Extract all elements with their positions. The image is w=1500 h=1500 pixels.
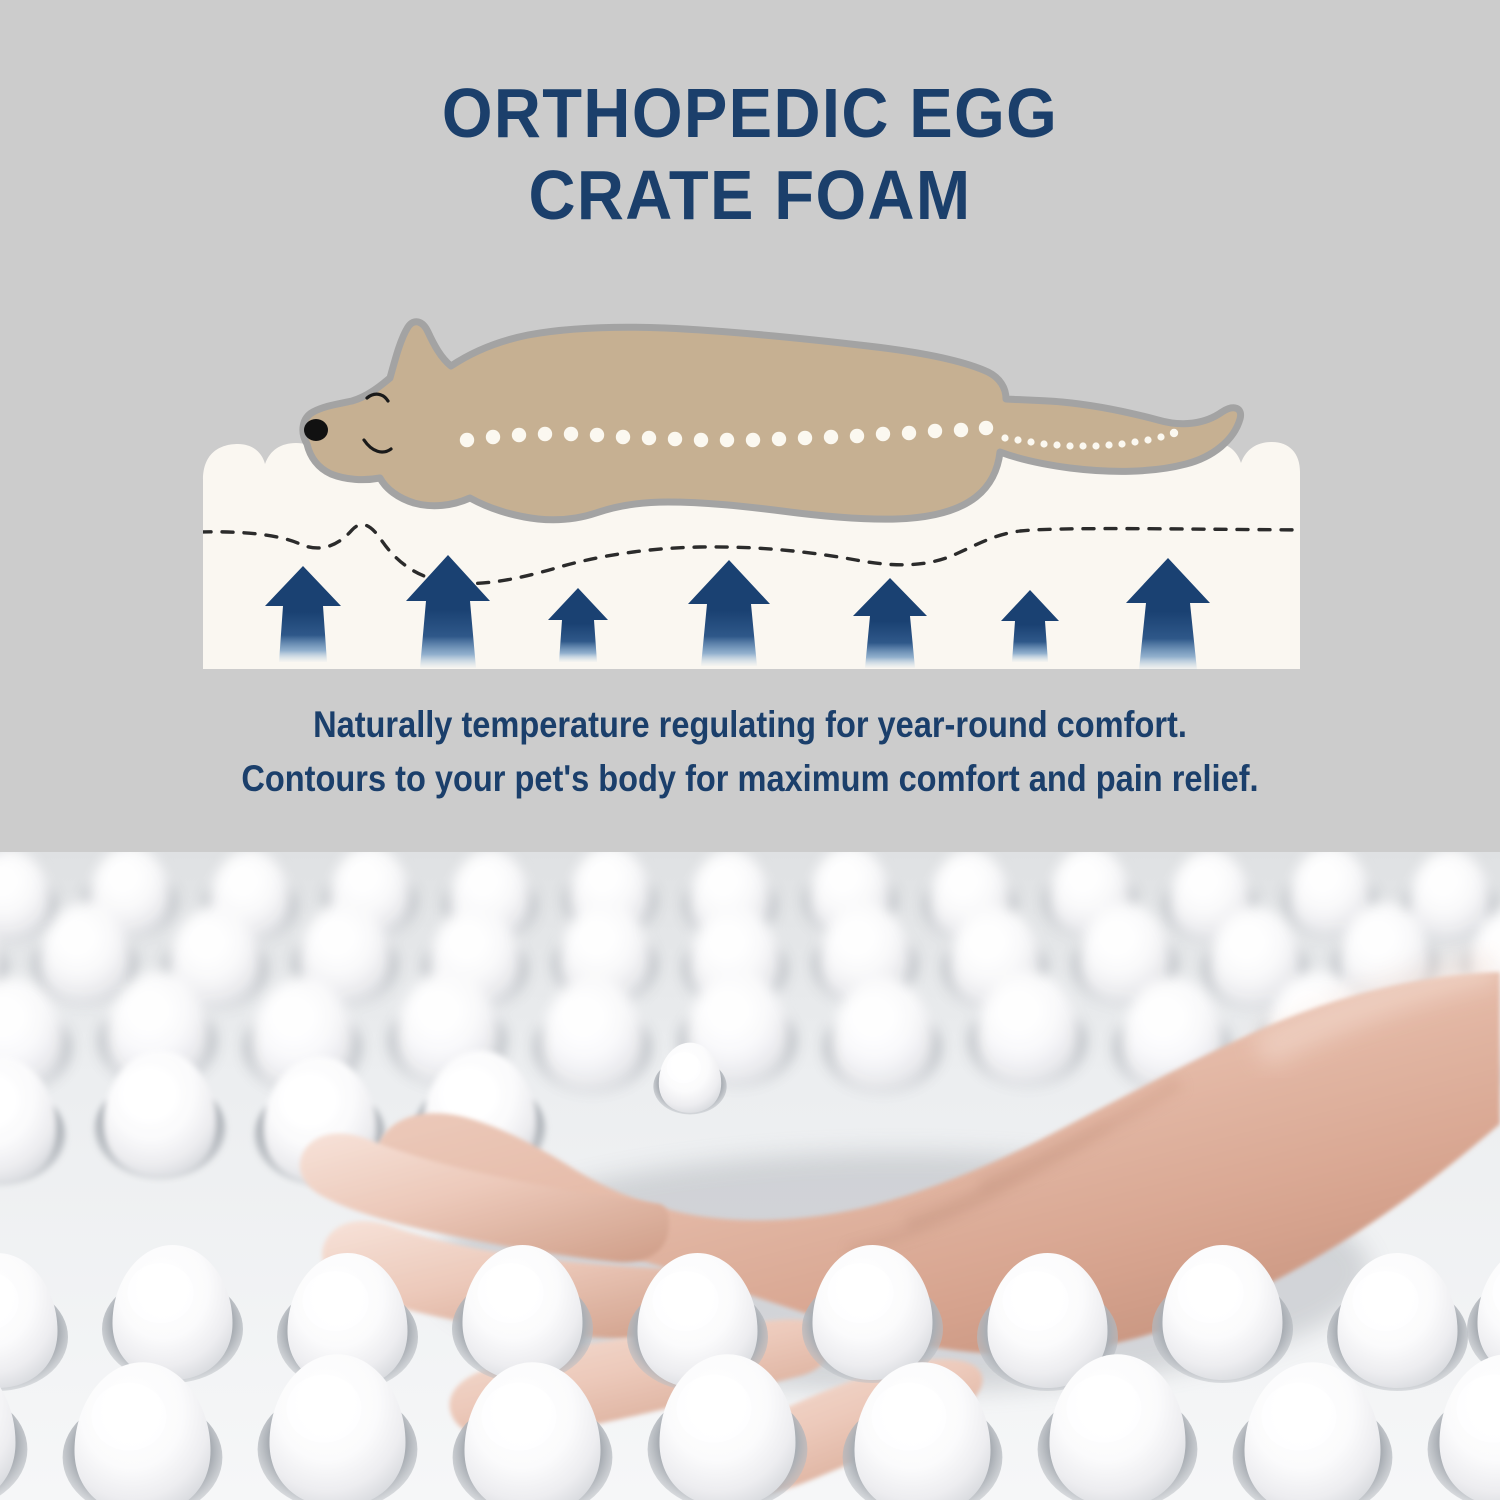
caption-block: Naturally temperature regulating for yea…	[90, 698, 1410, 806]
product-infographic-page: ORTHOPEDIC EGG CRATE FOAM	[0, 0, 1500, 1500]
diagram-panel: ORTHOPEDIC EGG CRATE FOAM	[0, 0, 1500, 852]
foam-photo-panel	[0, 852, 1500, 1500]
hand-pressing-foam-photo	[0, 852, 1500, 1500]
dog-nose-icon	[304, 419, 328, 441]
caption-line-2: Contours to your pet's body for maximum …	[90, 752, 1410, 806]
caption-line-1: Naturally temperature regulating for yea…	[90, 698, 1410, 752]
